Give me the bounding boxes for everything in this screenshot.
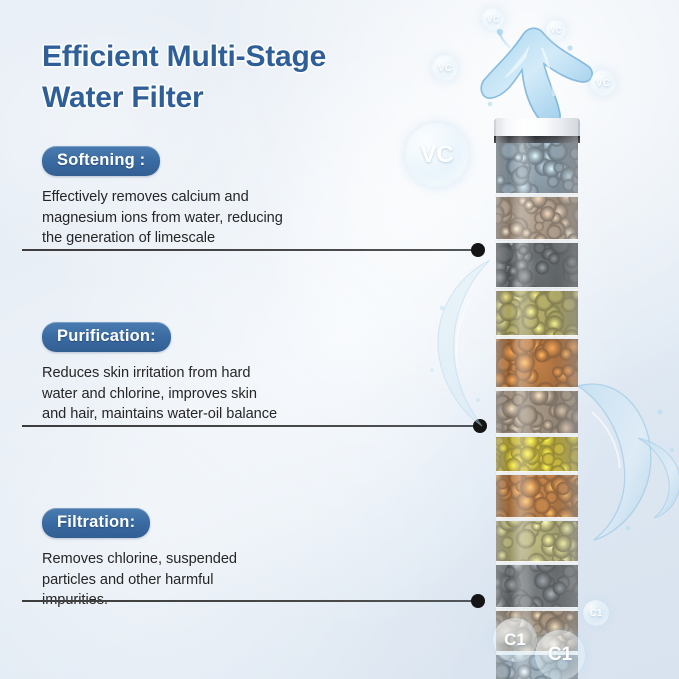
media-beads xyxy=(496,391,578,435)
page-title-line-2: Water Filter xyxy=(42,77,462,118)
page-title-line-1: Efficient Multi-Stage xyxy=(42,36,462,77)
media-beads xyxy=(496,475,578,519)
connector-rule xyxy=(22,600,475,602)
media-beads xyxy=(496,243,578,289)
water-splash-mid-icon xyxy=(412,250,507,440)
media-beads xyxy=(496,197,578,241)
media-beads xyxy=(496,611,578,653)
media-beads xyxy=(496,339,578,389)
connector-rule xyxy=(22,425,477,427)
water-filter-cartridge xyxy=(494,118,580,679)
media-beads xyxy=(496,143,578,195)
media-layer-tan-sand-layer xyxy=(496,611,578,653)
media-beads xyxy=(496,291,578,337)
page-title: Efficient Multi-Stage Water Filter xyxy=(42,36,462,119)
media-layer-orange-tourmaline-balls xyxy=(496,339,578,389)
media-layer-dark-gray-carbon-balls xyxy=(496,565,578,609)
media-layer-tan-mineral-balls xyxy=(496,197,578,241)
media-layer-pale-green-balls xyxy=(496,521,578,563)
water-splash-top-icon xyxy=(470,8,600,133)
media-layer-beige-mineral-balls xyxy=(496,391,578,435)
media-layer-yellow-green-kdf-balls xyxy=(496,291,578,337)
feature-desc-line: Effectively removes calcium and xyxy=(42,187,372,208)
water-splash-right-icon xyxy=(568,368,679,548)
media-layer-orange-ceramic-balls xyxy=(496,475,578,519)
media-beads xyxy=(496,521,578,563)
feature-desc-line: magnesium ions from water, reducing xyxy=(42,208,372,229)
feature-block-purification: Purification: Reduces skin irritation fr… xyxy=(42,322,372,425)
media-layer-blue-silver-granules xyxy=(496,655,578,679)
media-layer-dark-gray-maifan-stone xyxy=(496,243,578,289)
cartridge-top-cap xyxy=(494,118,580,138)
feature-badge-softening: Softening : xyxy=(42,146,160,176)
media-beads xyxy=(496,565,578,609)
cartridge-top-collar xyxy=(494,136,580,143)
feature-description-softening: Effectively removes calcium and magnesiu… xyxy=(42,187,372,249)
media-beads xyxy=(496,437,578,473)
feature-description-purification: Reduces skin irritation from hard water … xyxy=(42,363,372,425)
connector-line-filtration xyxy=(22,594,485,608)
connector-rule xyxy=(22,249,475,251)
feature-desc-line: Reduces skin irritation from hard xyxy=(42,363,372,384)
feature-desc-line: particles and other harmful xyxy=(42,570,372,591)
feature-desc-line: water and chlorine, improves skin xyxy=(42,384,372,405)
feature-badge-purification: Purification: xyxy=(42,322,171,352)
feature-block-softening: Softening : Effectively removes calcium … xyxy=(42,146,372,249)
media-layer-blue-gray-ceramic-balls xyxy=(496,143,578,195)
feature-badge-filtration: Filtration: xyxy=(42,508,150,538)
media-layer-yellow-vitamin-c-fibre xyxy=(496,437,578,473)
feature-desc-line: Removes chlorine, suspended xyxy=(42,549,372,570)
media-beads xyxy=(496,655,578,679)
connector-dot xyxy=(471,594,485,608)
